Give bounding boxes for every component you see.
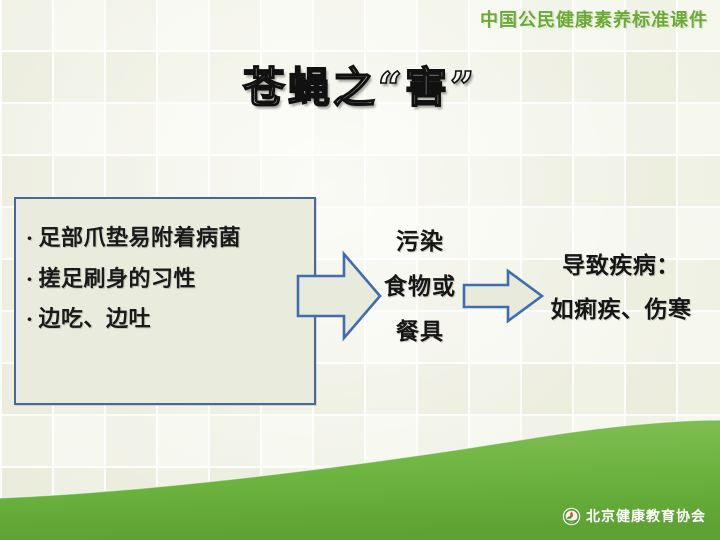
- slide-canvas: 中国公民健康素养标准课件 苍蝇之“害” · 足部爪垫易附着病菌 · 搓足刷身的习…: [0, 0, 720, 540]
- footer-organization-logo: 北京健康教育协会: [562, 506, 706, 526]
- bullet-dot-icon: ·: [26, 266, 33, 292]
- list-item-label: 足部爪垫易附着病菌: [38, 225, 241, 253]
- bullet-dot-icon: ·: [26, 225, 33, 251]
- course-header-label: 中国公民健康素养标准课件: [480, 6, 708, 32]
- causes-bullet-list: · 足部爪垫易附着病菌 · 搓足刷身的习性 · 边吃、边吐: [26, 225, 312, 347]
- causes-content-box: · 足部爪垫易附着病菌 · 搓足刷身的习性 · 边吃、边吐: [14, 197, 316, 405]
- outcome-line: 如痢疾、伤寒: [526, 290, 716, 324]
- list-item: · 足部爪垫易附着病菌: [26, 225, 312, 253]
- outcome-text: 导致疾病： 如痢疾、伤寒: [526, 246, 716, 334]
- footer-organization-name: 北京健康教育协会: [586, 506, 706, 526]
- outcome-line: 导致疾病：: [526, 246, 716, 280]
- bullet-dot-icon: ·: [26, 306, 33, 332]
- health-association-emblem-icon: [562, 507, 581, 526]
- list-item: · 搓足刷身的习性: [26, 266, 312, 294]
- page-title: 苍蝇之“害”: [0, 54, 720, 115]
- list-item-label: 搓足刷身的习性: [38, 266, 196, 294]
- list-item: · 边吃、边吐: [26, 306, 312, 334]
- middle-stage-line: 污染: [358, 222, 482, 256]
- list-item-label: 边吃、边吐: [38, 306, 151, 334]
